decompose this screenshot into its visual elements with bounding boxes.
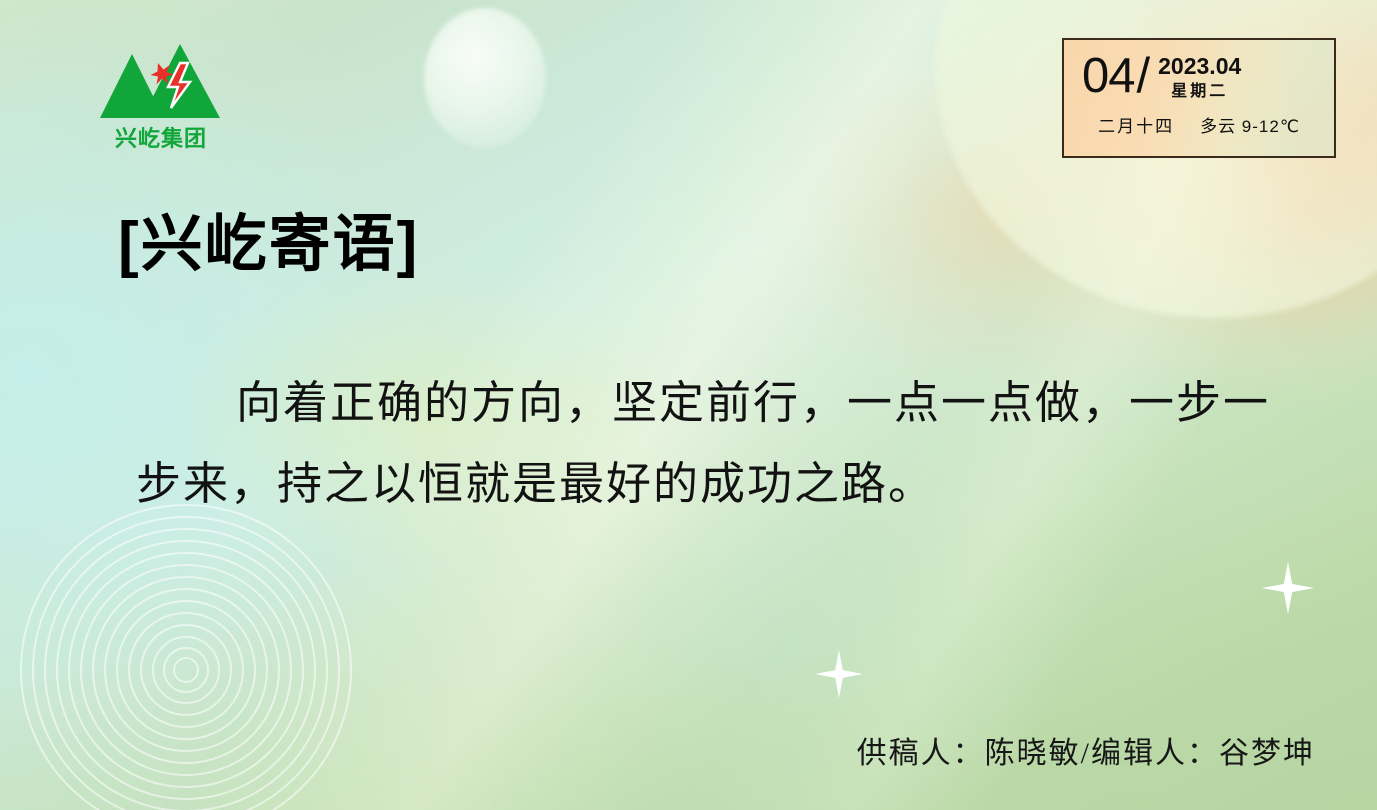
mountain-logo-icon — [98, 40, 224, 130]
date-weekday: 星期二 — [1171, 82, 1228, 101]
date-card-top-row: 04 / 2023.04 星期二 — [1064, 40, 1334, 112]
credit-line: 供稿人：陈晓敏/编辑人：谷梦坤 — [0, 728, 1315, 772]
page-title: [兴屹寄语] — [118, 214, 419, 276]
date-slash: / — [1137, 52, 1151, 101]
date-day: 04 — [1082, 52, 1135, 101]
message-body: 向着正确的方向，坚定前行，一点一点做，一步一步来，持之以恒就是最好的成功之路。 — [136, 363, 1316, 525]
poster-canvas: 兴屹集团 04 / 2023.04 星期二 二月十四 多云 9-12℃ [兴屹寄… — [0, 0, 1377, 810]
sparkle-star-icon-center — [815, 650, 863, 698]
sparkle-star-icon-right — [1262, 562, 1314, 614]
brand-name-label: 兴屹集团 — [98, 128, 224, 150]
date-card-right-stack: 2023.04 星期二 — [1158, 51, 1241, 101]
date-card: 04 / 2023.04 星期二 二月十四 多云 9-12℃ — [1062, 38, 1336, 158]
date-weather: 多云 9-12℃ — [1200, 112, 1300, 137]
soft-blob-icon-top — [424, 8, 546, 148]
date-year-month: 2023.04 — [1158, 53, 1241, 81]
date-card-bottom-row: 二月十四 多云 9-12℃ — [1064, 112, 1334, 156]
brand-logo: 兴屹集团 — [98, 40, 224, 160]
date-lunar: 二月十四 — [1098, 112, 1174, 137]
